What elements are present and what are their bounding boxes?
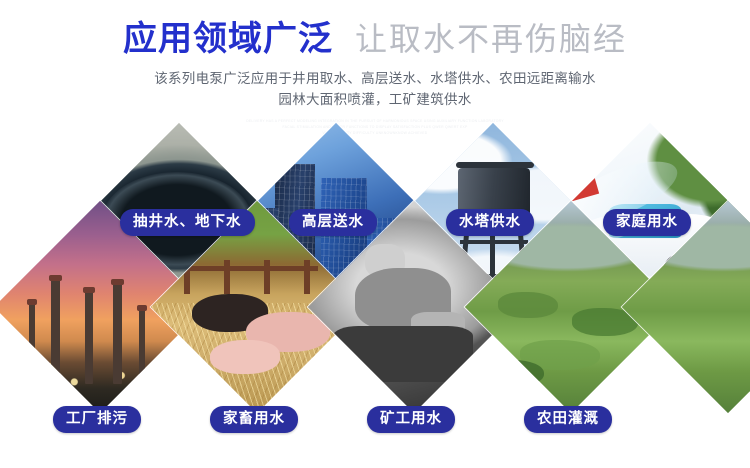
badge-miner-water[interactable]: 矿工用水 — [367, 406, 455, 433]
lead-line-2: 园林大面积喷灌，工矿建筑供水 — [0, 90, 750, 111]
page-title: 应用领域广泛 — [123, 22, 333, 56]
badge-livestock-water[interactable]: 家畜用水 — [210, 406, 298, 433]
badge-water-tower[interactable]: 水塔供水 — [446, 209, 534, 236]
title-row: 应用领域广泛 让取水不再伤脑经 — [0, 0, 750, 56]
header-block: 应用领域广泛 让取水不再伤脑经 该系列电泵广泛应用于井用取水、高层送水、水塔供水… — [0, 0, 750, 137]
badge-household-water[interactable]: 家庭用水 — [603, 209, 691, 236]
lead-paragraph: 该系列电泵广泛应用于井用取水、高层送水、水塔供水、农田远距离输水 园林大面积喷灌… — [0, 69, 750, 111]
badge-farmland-irrigation[interactable]: 农田灌溉 — [524, 406, 612, 433]
page-subtitle: 让取水不再伤脑经 — [355, 23, 627, 55]
badge-factory-drainage[interactable]: 工厂排污 — [53, 406, 141, 433]
badge-highrise-supply[interactable]: 高层送水 — [289, 209, 377, 236]
badge-well-groundwater[interactable]: 抽井水、地下水 — [120, 209, 255, 236]
diamond-mosaic: 抽井水、地下水 高层送水 水塔供水 家庭用水 工厂排污 家畜用水 矿工用水 农田… — [0, 168, 750, 468]
promo-banner: 应用领域广泛 让取水不再伤脑经 该系列电泵广泛应用于井用取水、高层送水、水塔供水… — [0, 0, 750, 468]
lead-line-1: 该系列电泵广泛应用于井用取水、高层送水、水塔供水、农田远距离输水 — [0, 69, 750, 90]
